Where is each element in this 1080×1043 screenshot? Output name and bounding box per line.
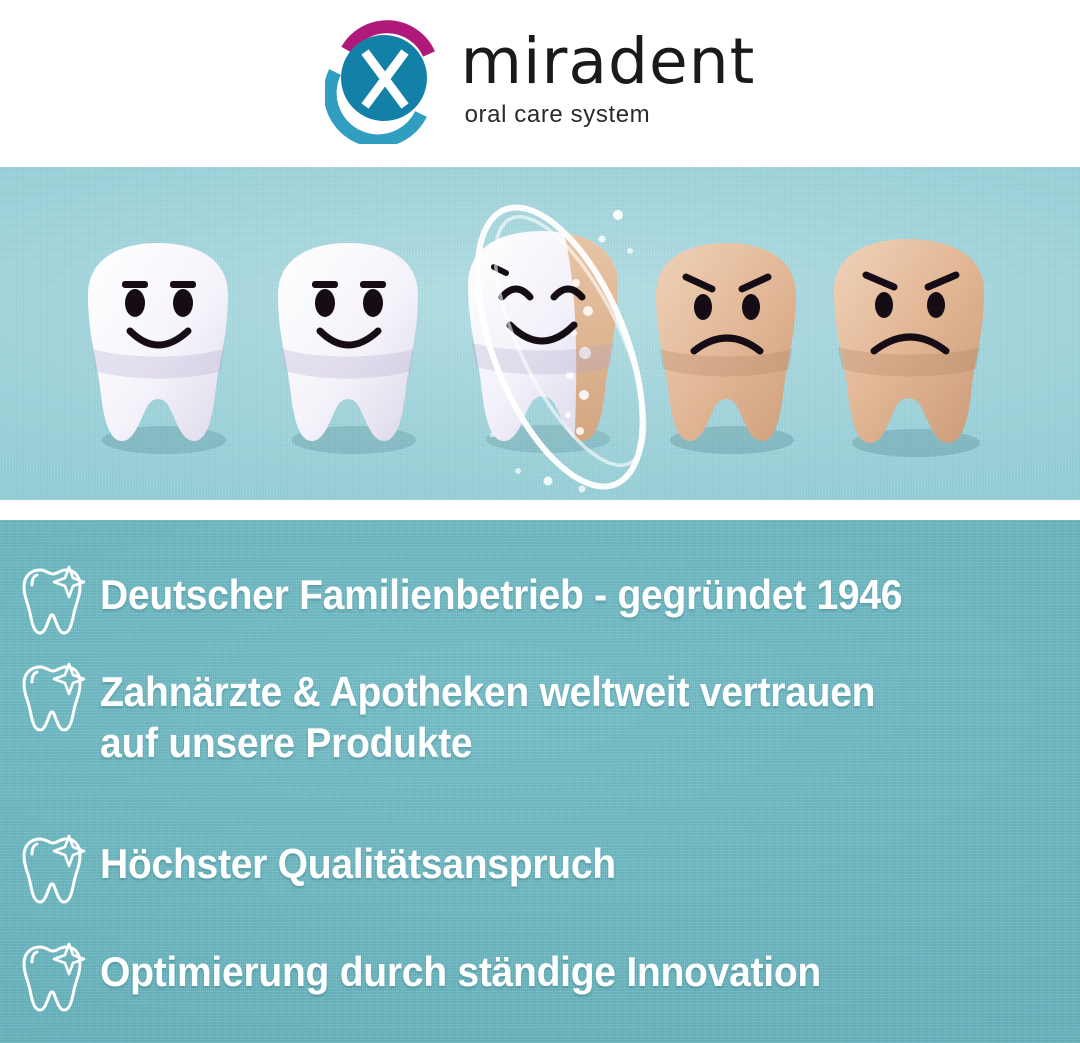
teeth-row (0, 167, 1080, 500)
features-panel: Deutscher Familienbetrieb - gegründet 19… (0, 520, 1080, 1043)
promo-banner: miradent oral care system (0, 0, 1080, 1043)
tooth-sad-2 (824, 233, 994, 455)
brand-header: miradent oral care system (0, 0, 1080, 167)
tooth-happy-1 (78, 237, 238, 452)
feature-label: Deutscher Familienbetrieb - gegründet 19… (100, 563, 902, 620)
tooth-sparkle-icon (18, 942, 86, 1016)
feature-label: Optimierung durch ständige Innovation (100, 940, 821, 997)
feature-label: Höchster Qualitätsanspruch (100, 832, 616, 889)
list-item: Höchster Qualitätsanspruch (18, 832, 1058, 908)
feature-label: Zahnärzte & Apotheken weltweit vertrauen… (100, 660, 875, 768)
tooth-sparkle-icon (18, 565, 86, 639)
hero-photo (0, 167, 1080, 500)
tooth-sparkle-icon (18, 834, 86, 908)
list-item: Zahnärzte & Apotheken weltweit vertrauen… (18, 660, 1058, 768)
brand-logo: miradent oral care system (325, 16, 756, 144)
section-divider (0, 500, 1080, 520)
brand-wordmark: miradent (461, 32, 756, 92)
brand-wordmark-group: miradent oral care system (461, 16, 756, 130)
tooth-sparkle-icon (18, 662, 86, 736)
tooth-happy-2 (268, 237, 428, 452)
miradent-x-circle-logo-icon (325, 16, 443, 144)
tooth-happy-3 (458, 225, 628, 453)
brand-tagline: oral care system (465, 101, 651, 129)
tooth-sad-1 (646, 237, 806, 452)
list-item: Optimierung durch ständige Innovation (18, 940, 1058, 1016)
list-item: Deutscher Familienbetrieb - gegründet 19… (18, 563, 1058, 639)
